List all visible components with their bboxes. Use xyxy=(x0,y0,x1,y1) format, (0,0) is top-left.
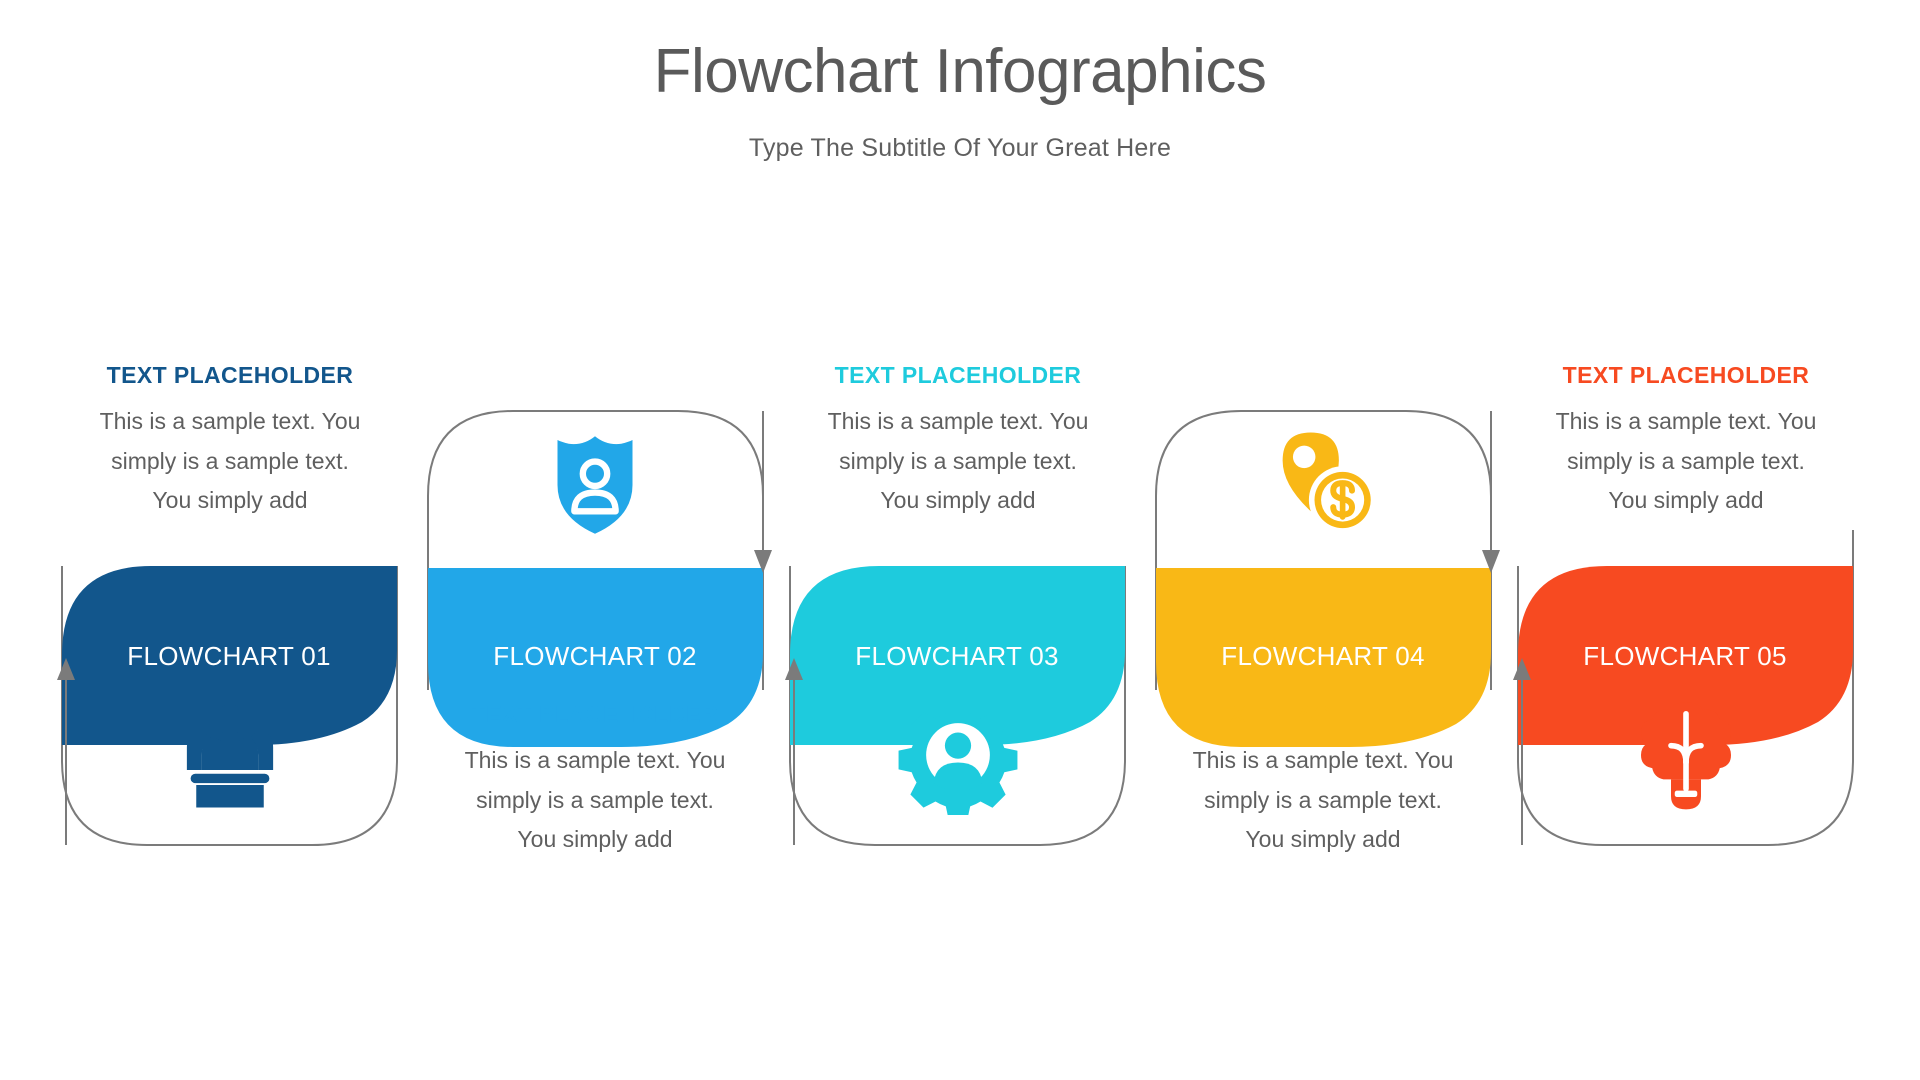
body-line-5-2: simply is a sample text. xyxy=(1506,442,1866,482)
body-line-2-3: You simply add xyxy=(415,820,775,860)
body-line-1-1: This is a sample text. You xyxy=(50,402,410,442)
slide-canvas: Flowchart Infographics Type The Subtitle… xyxy=(0,0,1920,1080)
body-line-4-1: This is a sample text. You xyxy=(1143,741,1503,781)
placeholder-title-5: TEXT PLACEHOLDER xyxy=(1506,362,1866,389)
arrow-down-into-card3 xyxy=(754,411,772,573)
text-block-2: TEXT PLACEHOLDER This is a sample text. … xyxy=(415,701,775,860)
body-line-1-3: You simply add xyxy=(50,481,410,521)
body-line-3-1: This is a sample text. You xyxy=(778,402,1138,442)
placeholder-title-4: TEXT PLACEHOLDER xyxy=(1143,701,1503,728)
placeholder-title-2: TEXT PLACEHOLDER xyxy=(415,701,775,728)
arrow-up-into-card3 xyxy=(785,658,803,845)
body-line-1-2: simply is a sample text. xyxy=(50,442,410,482)
arrow-up-into-card5 xyxy=(1513,658,1531,845)
body-line-5-3: You simply add xyxy=(1506,481,1866,521)
body-line-3-2: simply is a sample text. xyxy=(778,442,1138,482)
band-label-2[interactable]: FLOWCHART 02 xyxy=(385,641,805,672)
body-line-4-3: You simply add xyxy=(1143,820,1503,860)
text-block-4: TEXT PLACEHOLDER This is a sample text. … xyxy=(1143,701,1503,860)
band-label-3[interactable]: FLOWCHART 03 xyxy=(747,641,1167,672)
band-label-5[interactable]: FLOWCHART 05 xyxy=(1475,641,1895,672)
arrow-down-into-card5 xyxy=(1482,411,1500,573)
gear-user-icon xyxy=(898,695,1018,815)
text-block-1: TEXT PLACEHOLDER This is a sample text. … xyxy=(50,362,410,521)
body-line-2-2: simply is a sample text. xyxy=(415,781,775,821)
text-block-5: TEXT PLACEHOLDER This is a sample text. … xyxy=(1506,362,1866,521)
arrow-up-into-card1 xyxy=(57,658,75,845)
band-label-4[interactable]: FLOWCHART 04 xyxy=(1113,641,1533,672)
page-title: Flowchart Infographics xyxy=(0,38,1920,106)
team-meeting-icon xyxy=(170,695,290,815)
body-line-3-3: You simply add xyxy=(778,481,1138,521)
slide-header: Flowchart Infographics Type The Subtitle… xyxy=(0,0,1920,163)
body-line-4-2: simply is a sample text. xyxy=(1143,781,1503,821)
placeholder-title-3: TEXT PLACEHOLDER xyxy=(778,362,1138,389)
shield-user-icon xyxy=(535,425,655,545)
body-line-2-1: This is a sample text. You xyxy=(415,741,775,781)
placeholder-title-1: TEXT PLACEHOLDER xyxy=(50,362,410,389)
text-block-3: TEXT PLACEHOLDER This is a sample text. … xyxy=(778,362,1138,521)
page-subtitle: Type The Subtitle Of Your Great Here xyxy=(0,134,1920,163)
band-label-1[interactable]: FLOWCHART 01 xyxy=(19,641,439,672)
brain-idea-icon xyxy=(1626,695,1746,815)
body-line-5-1: This is a sample text. You xyxy=(1506,402,1866,442)
location-money-icon xyxy=(1262,425,1382,545)
